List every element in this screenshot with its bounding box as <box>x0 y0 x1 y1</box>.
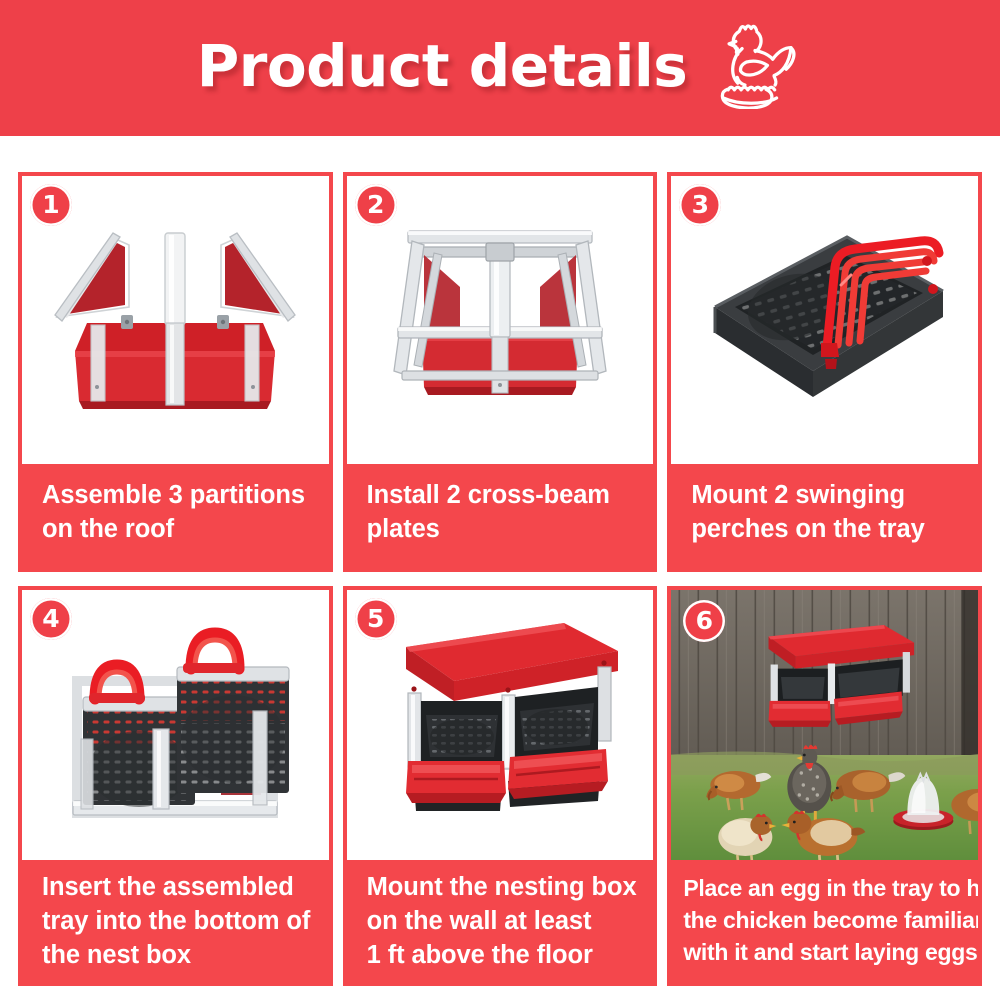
step-panel-2[interactable]: 2 <box>343 172 658 572</box>
step-caption-3: Mount 2 swinging perches on the tray <box>671 464 978 568</box>
caption-line: the nest box <box>42 938 313 972</box>
caption-line: on the roof <box>42 512 311 546</box>
step-caption-4: Insert the assembled tray into the botto… <box>22 860 329 982</box>
caption-line: perches on the tray <box>691 512 960 546</box>
caption-line: on the wall at least <box>367 904 638 938</box>
step-image-2 <box>347 176 654 464</box>
steps-grid: 1 <box>0 136 1000 1002</box>
step-caption-5: Mount the nesting box on the wall at lea… <box>347 860 654 982</box>
caption-line: Assemble 3 partitions <box>42 478 311 512</box>
page-title: Product details <box>197 37 688 95</box>
hen-on-nest-icon <box>707 17 803 109</box>
step-caption-1: Assemble 3 partitions on the roof <box>22 464 329 568</box>
step-panel-1[interactable]: 1 <box>18 172 333 572</box>
caption-line: Mount the nesting box <box>367 870 638 904</box>
step-panel-3[interactable]: 3 <box>667 172 982 572</box>
step-caption-6: Place an egg in the tray to help the chi… <box>671 860 978 982</box>
step-panel-6[interactable]: 6 <box>667 586 982 986</box>
step-panel-4[interactable]: 4 <box>18 586 333 986</box>
step-caption-2: Install 2 cross-beam plates <box>347 464 654 568</box>
caption-line: Insert the assembled <box>42 870 313 904</box>
step-image-3 <box>671 176 978 464</box>
page-header: Product details <box>0 0 1000 136</box>
caption-line: plates <box>367 512 636 546</box>
caption-line: Install 2 cross-beam <box>367 478 636 512</box>
caption-line: tray into the bottom of <box>42 904 313 938</box>
caption-line: with it and start laying eggs <box>683 936 968 968</box>
step-image-1 <box>22 176 329 464</box>
step-number-badge-2: 2 <box>355 184 397 226</box>
step-number-badge-4: 4 <box>30 598 72 640</box>
step-panel-5[interactable]: 5 <box>343 586 658 986</box>
caption-line: Place an egg in the tray to help <box>683 872 968 904</box>
step-number-badge-1: 1 <box>30 184 72 226</box>
step-number-badge-5: 5 <box>355 598 397 640</box>
caption-line: the chicken become familiar <box>683 904 968 936</box>
caption-line: 1 ft above the floor <box>367 938 638 972</box>
caption-line: Mount 2 swinging <box>691 478 960 512</box>
